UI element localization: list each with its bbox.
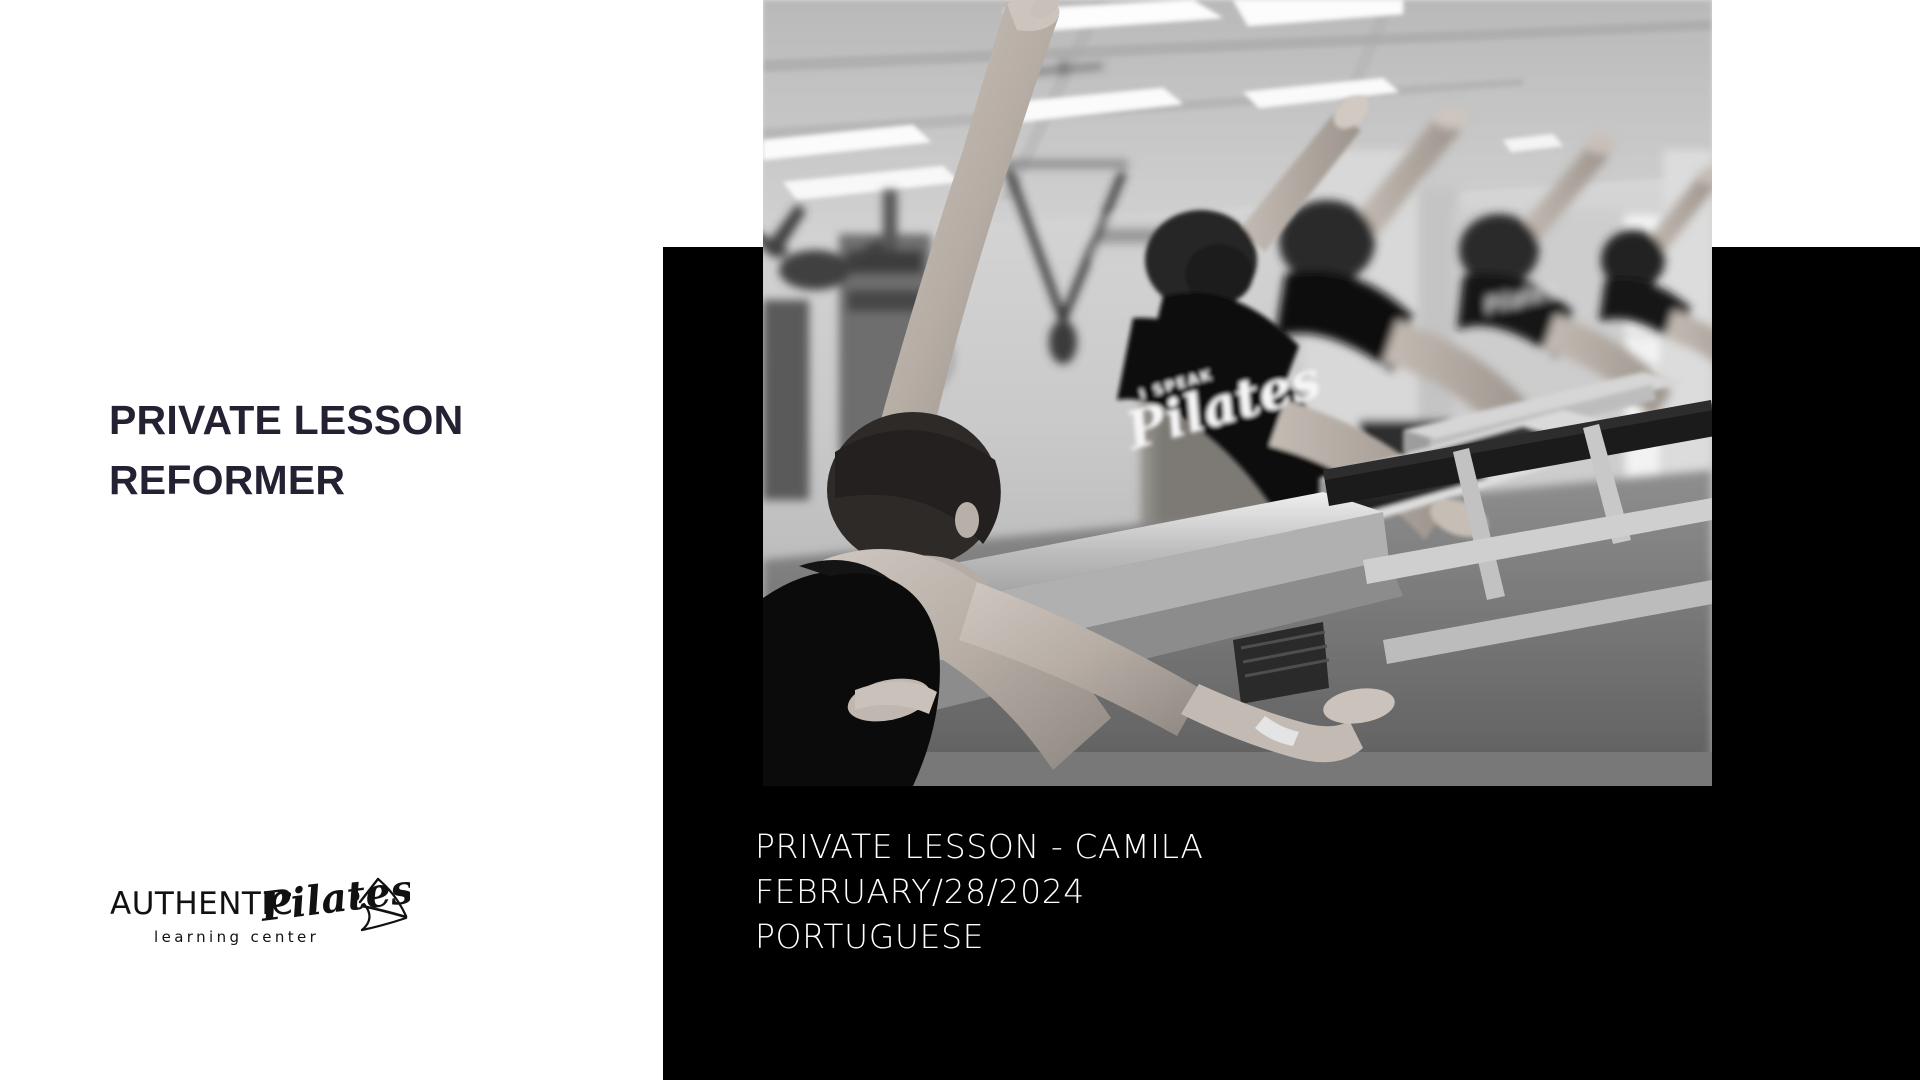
caption-line-language: PORTUGUESE	[755, 914, 1204, 959]
title-line-1: PRIVATE LESSON	[109, 390, 569, 450]
page-title: PRIVATE LESSON REFORMER	[109, 390, 569, 510]
class-photo: Pilates	[763, 0, 1712, 786]
logo-tagline: learning center	[154, 928, 319, 946]
caption-line-date: FEBRUARY/28/2024	[755, 869, 1204, 914]
photo-artwork: Pilates	[763, 0, 1712, 786]
authentic-pilates-logo: AUTHENTIC Pilates learning center	[110, 876, 410, 948]
title-line-2: REFORMER	[109, 450, 569, 510]
slide-caption: PRIVATE LESSON - CAMILA FEBRUARY/28/2024…	[755, 824, 1204, 959]
logo-artwork: AUTHENTIC Pilates learning center	[110, 876, 410, 948]
presentation-slide: Pilates	[0, 0, 1920, 1080]
caption-line-title: PRIVATE LESSON - CAMILA	[755, 824, 1204, 869]
